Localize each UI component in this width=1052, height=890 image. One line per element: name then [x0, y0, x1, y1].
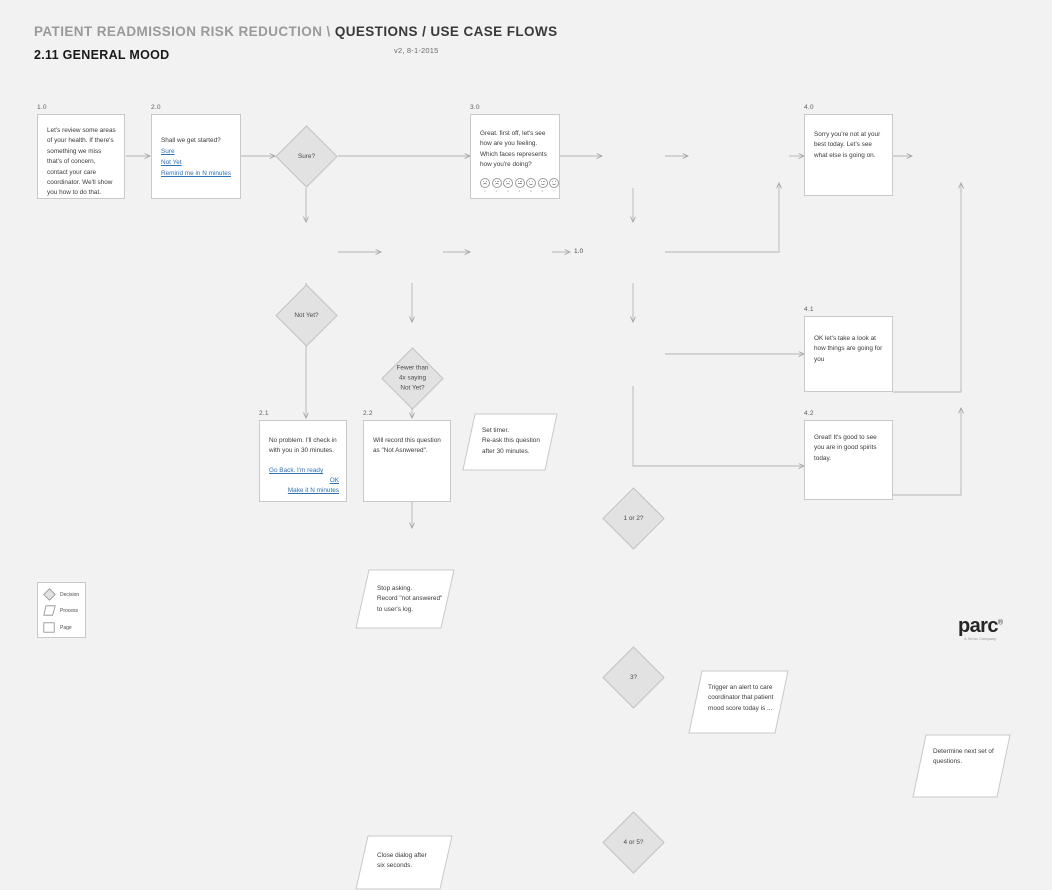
mood-face-6[interactable]: 6	[538, 178, 548, 188]
node-text: Let's review some areas of your health. …	[47, 126, 117, 199]
node-tag-1-0: 1.0	[37, 104, 47, 111]
node-tag-4-2: 4.2	[804, 410, 814, 417]
page-node-2-0[interactable]: Shall we get started? Sure Not Yet Remin…	[151, 114, 241, 199]
decision-1-or-2[interactable]: 1 or 2?	[602, 487, 665, 550]
node-text: No problem. I'll check in with you in 30…	[269, 436, 339, 457]
page-node-4-0[interactable]: Sorry you're not at your best today. Let…	[804, 114, 893, 196]
decision-3[interactable]: 3?	[602, 646, 665, 709]
page-title: 2.11 GENERAL MOOD	[34, 48, 734, 62]
logo-wordmark: parc®	[958, 616, 1002, 636]
link-make-it-n-minutes[interactable]: Make it N minutes	[269, 487, 339, 494]
node-text: Shall we get started?	[161, 136, 233, 146]
decision-4-or-5[interactable]: 4 or 5?	[602, 811, 665, 874]
node-text: Sorry you're not at your best today. Let…	[814, 130, 885, 161]
legend: Decision Process Page	[37, 582, 86, 638]
node-text: Sure?	[275, 151, 338, 161]
endpoint-label-1-0: 1.0	[574, 248, 583, 255]
diagram-canvas: PATIENT READMISSION RISK REDUCTION \ QUE…	[0, 0, 1052, 693]
legend-item-decision: Decision	[43, 588, 79, 601]
link-not-yet[interactable]: Not Yet	[161, 159, 182, 166]
node-text: Trigger an alert to care coordinator tha…	[708, 683, 780, 714]
legend-label: Page	[60, 625, 72, 631]
link-remind-me[interactable]: Remind me in N minutes	[161, 170, 231, 177]
diamond-icon	[43, 588, 56, 601]
breadcrumb: PATIENT READMISSION RISK REDUCTION \ QUE…	[34, 24, 734, 41]
node-text: Determine next set of questions.	[933, 747, 1001, 768]
node-text: Close dialog after six seconds.	[377, 851, 449, 872]
mood-face-scale[interactable]: 1 2 3 4 5 6 7	[480, 178, 559, 188]
breadcrumb-context: PATIENT READMISSION RISK REDUCTION \	[34, 24, 335, 39]
process-close-dialog[interactable]: Close dialog after six seconds.	[355, 835, 453, 890]
process-determine-next-set[interactable]: Determine next set of questions.	[912, 734, 1011, 798]
node-text: OK let's take a look at how things are g…	[814, 334, 885, 365]
node-tag-2-0: 2.0	[151, 104, 161, 111]
mood-face-4[interactable]: 4	[515, 178, 525, 188]
legend-label: Process	[60, 608, 78, 614]
legend-item-page: Page	[43, 622, 72, 633]
parc-logo: parc® A Xerox Company	[958, 616, 1002, 641]
page-node-3-0[interactable]: Great. first off, let's see how are you …	[470, 114, 560, 199]
parallelogram-icon	[43, 605, 56, 616]
link-sure[interactable]: Sure	[161, 148, 175, 155]
mood-face-1[interactable]: 1	[480, 178, 490, 188]
decision-not-yet[interactable]: Not Yet?	[275, 284, 338, 347]
node-text: Stop asking. Record "not answered" to us…	[377, 584, 451, 615]
node-tag-3-0: 3.0	[470, 104, 480, 111]
mood-face-2[interactable]: 2	[492, 178, 502, 188]
process-trigger-alert[interactable]: Trigger an alert to care coordinator tha…	[688, 670, 789, 734]
node-text: Great! It's good to see you are in good …	[814, 433, 885, 464]
node-text: 4 or 5?	[602, 837, 665, 847]
logo-tagline: A Xerox Company	[958, 637, 1002, 641]
link-ok[interactable]: OK	[269, 477, 339, 484]
legend-item-process: Process	[43, 605, 78, 616]
page-node-4-1[interactable]: OK let's take a look at how things are g…	[804, 316, 893, 392]
decision-sure[interactable]: Sure?	[275, 125, 338, 188]
decision-fewer-than-4x[interactable]: Fewer than 4x saying Not Yet?	[381, 347, 444, 410]
node-tag-2-1: 2.1	[259, 410, 269, 417]
page-node-4-2[interactable]: Great! It's good to see you are in good …	[804, 420, 893, 500]
mood-face-5[interactable]: 5	[526, 178, 536, 188]
node-text: 3?	[602, 672, 665, 682]
node-text: Not Yet?	[275, 310, 338, 320]
breadcrumb-current: QUESTIONS / USE CASE FLOWS	[335, 24, 558, 39]
rectangle-icon	[43, 622, 56, 633]
node-tag-4-1: 4.1	[804, 306, 814, 313]
node-text: Great. first off, let's see how are you …	[480, 129, 552, 171]
node-text: 1 or 2?	[602, 513, 665, 523]
node-text: Will record this question as "Not Asnwer…	[373, 436, 443, 457]
link-go-back[interactable]: Go Back. I'm ready	[269, 467, 339, 474]
node-text: Fewer than 4x saying Not Yet?	[381, 363, 444, 394]
page-node-2-1[interactable]: No problem. I'll check in with you in 30…	[259, 420, 347, 502]
mood-face-3[interactable]: 3	[503, 178, 513, 188]
node-text: Set timer. Re-ask this question after 30…	[482, 426, 554, 457]
version-label: v2, 8-1-2015	[394, 46, 439, 55]
process-set-timer[interactable]: Set timer. Re-ask this question after 30…	[462, 413, 558, 471]
page-node-2-2[interactable]: Will record this question as "Not Asnwer…	[363, 420, 451, 502]
page-node-1-0[interactable]: Let's review some areas of your health. …	[37, 114, 125, 199]
process-stop-asking[interactable]: Stop asking. Record "not answered" to us…	[355, 569, 455, 629]
legend-label: Decision	[60, 592, 79, 598]
mood-face-7[interactable]: 7	[549, 178, 559, 188]
page-header: PATIENT READMISSION RISK REDUCTION \ QUE…	[34, 24, 734, 62]
node-tag-4-0: 4.0	[804, 104, 814, 111]
node-tag-2-2: 2.2	[363, 410, 373, 417]
